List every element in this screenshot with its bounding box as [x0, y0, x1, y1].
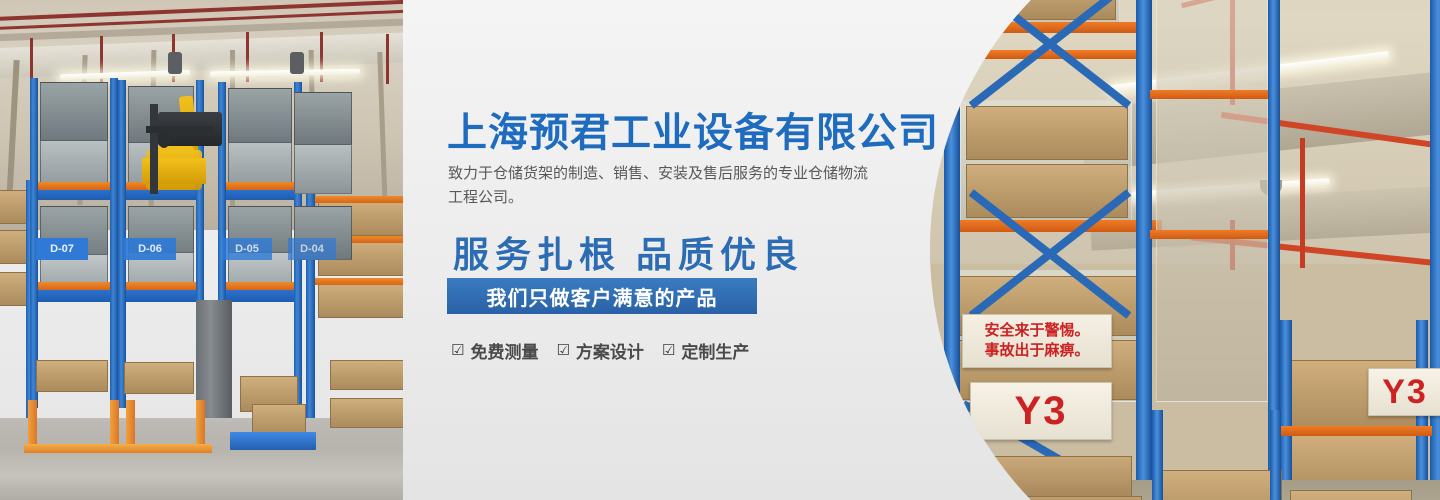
aisle-marker-sign: Y3	[970, 382, 1112, 440]
rack-beam	[312, 196, 403, 203]
carton	[1160, 470, 1282, 500]
banner-content: 上海预君工业设备有限公司 致力于仓储货架的制造、销售、安装及售后服务的专业仓储物…	[447, 0, 917, 500]
rack-foot-rail	[24, 444, 124, 453]
order-picker-rail	[150, 104, 158, 194]
pallet	[230, 432, 316, 450]
rack-upright	[110, 78, 118, 408]
check-icon: ☑	[662, 343, 675, 358]
rack-beam	[1276, 426, 1432, 436]
aisle-sign: D-04	[288, 238, 336, 260]
safety-sign-line-1: 安全来于警惕。	[984, 321, 1089, 341]
rack-beam	[120, 282, 204, 290]
rack-beam	[32, 282, 118, 290]
rack-upright	[1430, 0, 1440, 500]
rack-upright	[1270, 410, 1281, 500]
page-title: 上海预君工业设备有限公司	[447, 100, 939, 158]
order-picker-arm	[146, 126, 214, 133]
hero-banner: D-07 D-06 D-05 D-04	[0, 0, 1440, 500]
tote-stack	[294, 144, 352, 194]
feature-item-custom-production: ☑ 定制生产	[662, 338, 749, 363]
wrapped-pallet	[1156, 0, 1268, 402]
hanger-rod	[386, 34, 389, 84]
carton	[318, 282, 403, 318]
feature-list: ☑ 免费测量 ☑ 方案设计 ☑ 定制生产	[451, 338, 749, 363]
rack-beam	[32, 182, 118, 190]
pallet-stack	[980, 496, 1142, 500]
rack-foot-rail	[122, 444, 212, 453]
carton	[330, 398, 403, 428]
feature-item-free-measure: ☑ 免费测量	[451, 338, 538, 363]
rack-beam	[1150, 90, 1280, 99]
rack-upright	[1136, 0, 1152, 500]
carton	[36, 360, 108, 392]
carton	[966, 106, 1128, 160]
safety-sign: 安全来于警惕。 事故出于麻痹。	[962, 314, 1112, 368]
company-slogan: 服务扎根 品质优良	[453, 226, 804, 278]
carton	[124, 362, 194, 394]
warehouse-photo-right: 安全来于警惕。 事故出于麻痹。 Y3	[930, 0, 1440, 500]
aisle-marker-right-label: Y3	[1382, 375, 1428, 409]
company-subtitle: 致力于仓储货架的制造、销售、安装及售后服务的专业仓储物流工程公司。	[448, 162, 868, 210]
rack-beam	[960, 22, 1150, 33]
tote-stack	[228, 88, 292, 144]
tote-stack	[294, 92, 352, 146]
rack-beam	[1150, 230, 1280, 239]
aisle-sign-label: D-06	[138, 243, 162, 255]
rack-upright	[944, 0, 960, 500]
quality-badge: 我们只做客户满意的产品	[447, 278, 757, 314]
ceiling-fan	[290, 52, 304, 74]
rack-beam	[952, 220, 1162, 232]
quality-badge-label: 我们只做客户满意的产品	[487, 282, 718, 311]
feature-label: 方案设计	[576, 338, 644, 363]
aisle-marker-label: Y3	[1015, 391, 1068, 431]
hanger-rod	[30, 38, 33, 80]
tote-stack	[40, 82, 108, 142]
aisle-sign: D-07	[36, 238, 88, 260]
aisle-sign-label: D-07	[50, 243, 74, 255]
aisle-sign: D-06	[124, 238, 176, 260]
sprinkler-drop	[1300, 138, 1305, 268]
rack-beam	[220, 282, 302, 290]
rack-beam	[312, 278, 403, 285]
warehouse-photo-left: D-07 D-06 D-05 D-04	[0, 0, 403, 500]
feature-label: 定制生产	[681, 338, 749, 363]
rack-upright	[1152, 410, 1163, 500]
check-icon: ☑	[451, 343, 464, 358]
check-icon: ☑	[556, 343, 569, 358]
pallet-stack	[990, 456, 1132, 498]
ceiling-fan	[168, 52, 182, 74]
feature-label: 免费测量	[470, 338, 538, 363]
carton	[1290, 490, 1412, 500]
aisle-marker-sign-right: Y3	[1368, 368, 1440, 416]
aisle-sign-label: D-05	[235, 243, 259, 255]
carton	[330, 360, 403, 390]
aisle-sign-label: D-04	[300, 243, 324, 255]
safety-sign-line-2: 事故出于麻痹。	[984, 341, 1089, 361]
operator	[158, 132, 170, 148]
aisle-sign: D-05	[222, 238, 272, 260]
rack-beam	[220, 182, 302, 190]
warehouse-photo-right-circle: 安全来于警惕。 事故出于麻痹。 Y3	[930, 0, 1440, 500]
feature-item-plan-design: ☑ 方案设计	[556, 338, 643, 363]
